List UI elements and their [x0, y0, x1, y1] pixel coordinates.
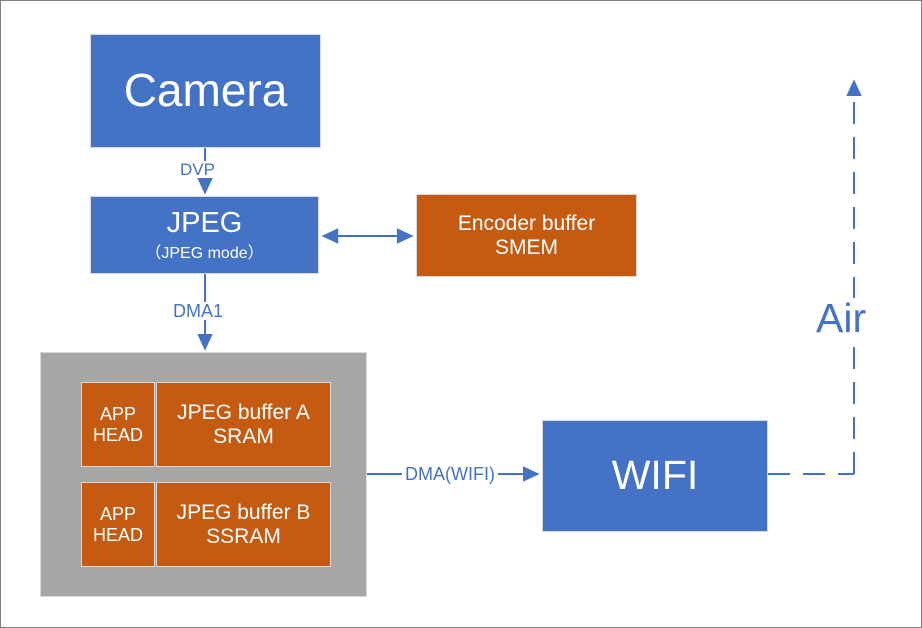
- node-wifi[interactable]: WIFI: [542, 420, 768, 532]
- node-buffer-a-app-head[interactable]: APP HEAD: [81, 382, 155, 467]
- node-encoder-buffer[interactable]: Encoder buffer SMEM: [416, 194, 637, 277]
- edge-label-dvp: DVP: [177, 161, 218, 178]
- node-jpeg-sublabel: （JPEG mode）: [145, 245, 263, 263]
- node-jpeg-label: JPEG: [167, 207, 243, 239]
- node-buffer-a-body[interactable]: JPEG buffer A SRAM: [156, 382, 331, 467]
- node-buffer-b-app-head-line2: HEAD: [93, 525, 143, 545]
- node-camera[interactable]: Camera: [90, 34, 321, 148]
- node-buffer-a-app-head-line2: HEAD: [93, 425, 143, 445]
- node-buffer-b-app-head-line1: APP: [100, 504, 136, 524]
- node-camera-label: Camera: [124, 65, 288, 117]
- edge-label-air: Air: [812, 298, 870, 339]
- node-wifi-label: WIFI: [612, 453, 699, 499]
- node-buffer-a-body-line1: JPEG buffer A: [177, 401, 310, 425]
- node-buffer-b-app-head[interactable]: APP HEAD: [81, 482, 155, 567]
- node-buffer-a-app-head-line1: APP: [100, 404, 136, 424]
- node-buffer-a-body-line2: SRAM: [213, 425, 274, 449]
- node-buffer-b-body-line2: SSRAM: [206, 525, 281, 549]
- diagram-canvas: Camera JPEG （JPEG mode） Encoder buffer S…: [0, 0, 922, 628]
- edge-label-dma-wifi: DMA(WIFI): [402, 465, 498, 483]
- node-buffer-b-body[interactable]: JPEG buffer B SSRAM: [156, 482, 331, 567]
- node-encoder-buffer-line1: Encoder buffer: [458, 212, 595, 236]
- node-jpeg[interactable]: JPEG （JPEG mode）: [90, 196, 319, 274]
- edge-label-dma1: DMA1: [170, 302, 226, 320]
- node-encoder-buffer-line2: SMEM: [495, 236, 558, 260]
- node-buffer-b-body-line1: JPEG buffer B: [177, 501, 311, 525]
